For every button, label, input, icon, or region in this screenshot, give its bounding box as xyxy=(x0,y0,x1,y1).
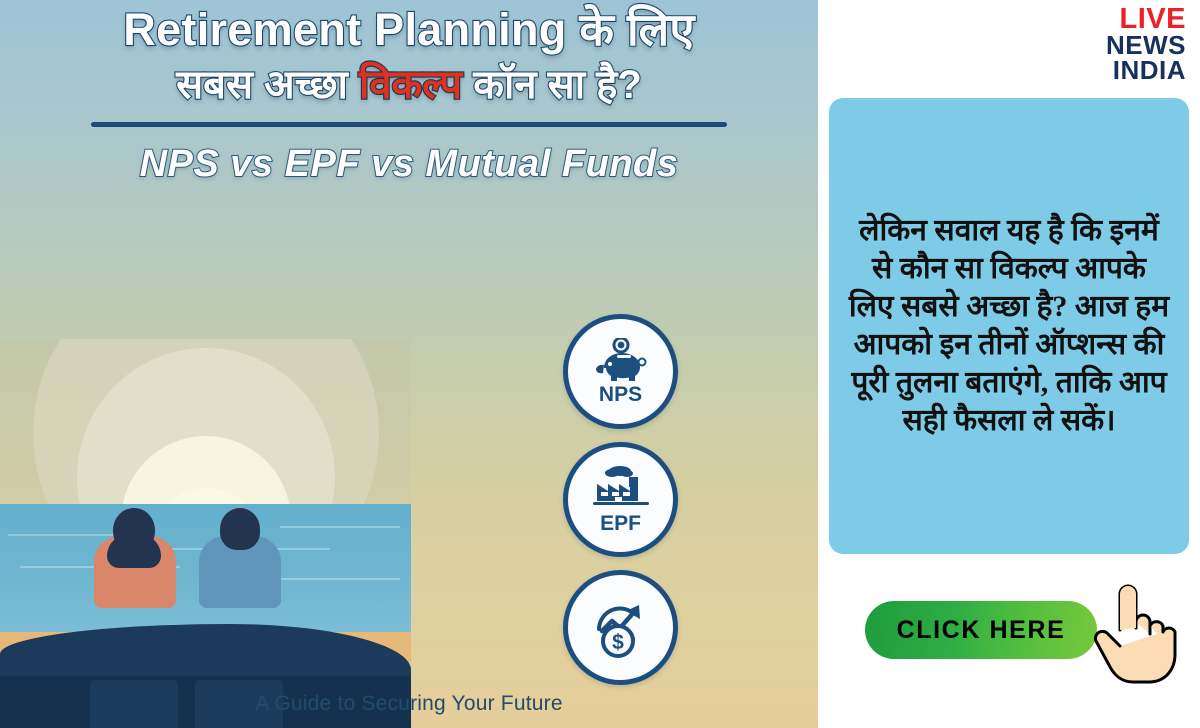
headline-line-2-post: कॉन सा है? xyxy=(462,63,642,107)
logo-line-india: INDIA xyxy=(1106,58,1186,82)
option-circle-epf[interactable]: EPF xyxy=(563,442,678,557)
option-circle-nps[interactable]: NPS xyxy=(563,314,678,429)
person-left-head xyxy=(113,508,155,552)
click-here-button[interactable]: CLICK HERE xyxy=(865,601,1097,659)
option-icon-list: NPS EPF xyxy=(563,314,678,698)
creative-footnote: A Guide to Securing Your Future xyxy=(0,692,818,716)
growth-dollar-icon: $ xyxy=(587,595,655,659)
subtitle: NPS vs EPF vs Mutual Funds xyxy=(0,143,818,186)
wave-line xyxy=(8,534,128,536)
poster-root: Retirement Planning के लिए सबस अच्छा विक… xyxy=(0,0,1200,728)
description-card: लेकिन सवाल यह है कि इनमें से कौन सा विकल… xyxy=(829,98,1189,554)
headline-line-2: सबस अच्छा विकल्प कॉन सा है? xyxy=(0,62,818,108)
svg-text:$: $ xyxy=(612,631,624,654)
factory-icon xyxy=(589,465,653,511)
option-label-epf: EPF xyxy=(600,513,641,534)
creative-image: Retirement Planning के लिए सबस अच्छा विक… xyxy=(0,0,818,728)
headline-line-2-pre: सबस अच्छा xyxy=(176,63,359,107)
piggy-bank-icon xyxy=(590,338,652,382)
description-text: लेकिन सवाल यह है कि इनमें से कौन सा विकल… xyxy=(847,212,1171,441)
headline-highlight-word: विकल्प xyxy=(359,63,462,107)
headline-divider xyxy=(91,122,727,127)
side-panel: LIVE NEWS INDIA लेकिन सवाल यह है कि इनमे… xyxy=(818,0,1200,728)
cta-row: CLICK HERE xyxy=(829,594,1189,674)
headline-block: Retirement Planning के लिए सबस अच्छा विक… xyxy=(0,0,818,186)
headline-line-1: Retirement Planning के लिए xyxy=(0,4,818,56)
person-right-head xyxy=(220,508,260,550)
live-news-india-logo: LIVE NEWS INDIA xyxy=(1106,6,1186,82)
retired-couple-beach-illustration xyxy=(0,339,411,728)
wave-line xyxy=(280,526,400,528)
option-label-nps: NPS xyxy=(599,384,642,405)
pointing-hand-icon xyxy=(1087,576,1179,686)
option-circle-mutual-funds[interactable]: $ xyxy=(563,570,678,685)
logo-line-live: LIVE xyxy=(1106,6,1186,33)
